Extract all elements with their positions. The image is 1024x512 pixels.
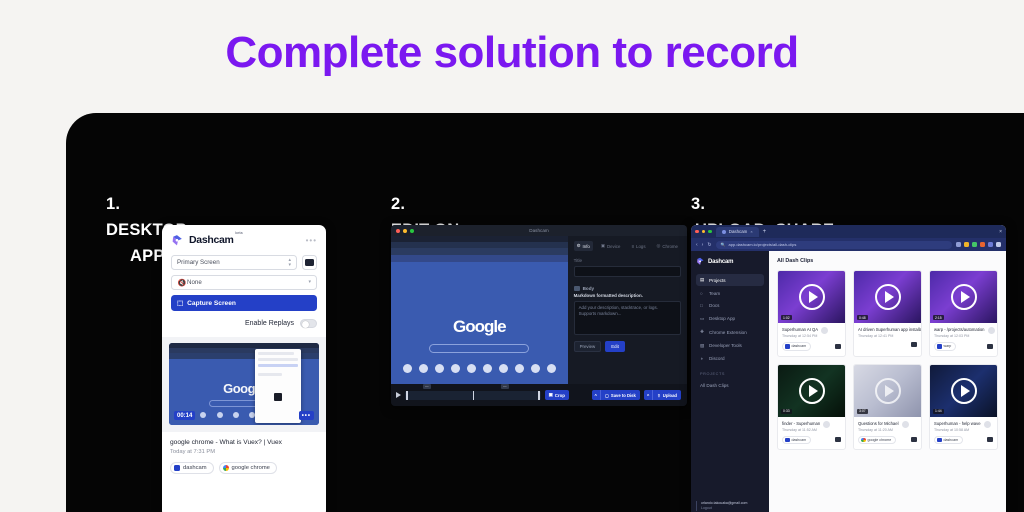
browser-extensions: [956, 242, 1001, 247]
clip-card-tag[interactable]: dashcam: [782, 342, 811, 351]
clip-tag-dashcam-label: dashcam: [183, 465, 207, 471]
clip-card-thumbnail[interactable]: 2:15: [930, 271, 997, 323]
clip-card-time: Thursday at 11:20 AM: [858, 428, 899, 432]
sidebar-item-team[interactable]: ○ Team: [696, 288, 764, 299]
showcase-stage: 1. DESKTOP APPLICATION Dashcam beta •••: [66, 113, 1024, 512]
clip-card[interactable]: 1:44 Superhuman - help wave Thursday at …: [929, 364, 998, 451]
timeline-mark-1: —: [423, 384, 431, 389]
avatar: [984, 421, 991, 428]
editor-footer: — — ▣ Crop ^ ▢: [391, 384, 687, 406]
avatar: [823, 421, 830, 428]
clip-tag-dashcam[interactable]: dashcam: [170, 462, 214, 474]
chrome-extension-icon: ❖: [700, 329, 705, 335]
clip-card-title: finder - Superhuman: [782, 421, 820, 427]
clip-tag-chrome-label: google chrome: [232, 465, 270, 471]
editor-video-preview[interactable]: Google: [391, 236, 568, 384]
browser-urlbar: ‹ › ↻ 🔍 app.dashcam.io/projects/all-dash…: [691, 238, 1006, 251]
clip-duration: 0:48: [857, 315, 868, 320]
clips-grid: 1:02 Superhuman AI QA Thursday at 12:54 …: [777, 270, 998, 450]
step-1-number: 1.: [106, 195, 120, 213]
info-icon: ⚙: [577, 243, 581, 249]
tab-info[interactable]: ⚙ Info: [574, 241, 593, 251]
clip-card-footer: dashcam: [782, 342, 841, 351]
step-column-1: 1. DESKTOP APPLICATION Dashcam beta •••: [106, 113, 366, 295]
crop-button[interactable]: ▣ Crop: [545, 390, 569, 400]
clip-card[interactable]: 1:02 Superhuman AI QA Thursday at 12:54 …: [777, 270, 846, 357]
clip-card-tag-label: dashcam: [792, 344, 807, 348]
step-column-3: 3. UPLOAD, SHARE, COLLAB Dashcam × + × ‹…: [691, 113, 1024, 295]
clip-card-meta: AI driven Superhuman app installation a.…: [854, 323, 921, 352]
clip-card-thumbnail[interactable]: 3:07: [854, 365, 921, 417]
sidebar-item-chrome-extension-label: Chrome Extension: [709, 330, 747, 335]
clip-card-top: finder - Superhuman Thursday at 11:52 AM: [782, 421, 841, 432]
timeline-mark-2: —: [501, 384, 509, 389]
sidebar-item-desktop-app[interactable]: ▭ Desktop App: [696, 313, 764, 325]
clip-tag-chrome[interactable]: google chrome: [219, 462, 277, 474]
discord-icon: ◑: [700, 356, 705, 361]
screen-select-value: Primary Screen: [177, 259, 220, 266]
dashcam-tag-icon: [785, 438, 790, 443]
clip-card-tag[interactable]: dashcam: [782, 436, 811, 445]
clip-card-thumbnail[interactable]: 1:02: [778, 271, 845, 323]
editor-window-title: Dashcam: [391, 228, 687, 233]
thumb-dashcam-overlay: [255, 349, 301, 423]
desktop-app-icon: ▭: [700, 316, 705, 322]
timeline-controls: — — ▣ Crop: [391, 390, 574, 400]
clip-duration: 0:33: [781, 409, 792, 414]
app-brand-name: Dashcam beta: [189, 234, 234, 246]
body-field-hint: Markdown formatted description.: [574, 293, 681, 298]
clip-card-top: Superhuman AI QA Thursday at 12:54 PM: [782, 327, 841, 338]
clip-menu-icon[interactable]: •••: [299, 411, 314, 420]
chevron-updown-icon: [288, 258, 291, 268]
video-bookmarkbar: [391, 255, 568, 262]
browser-tab-label: Dashcam: [729, 229, 748, 234]
download-icon[interactable]: [835, 437, 841, 442]
enable-replays-label: Enable Replays: [245, 320, 294, 327]
clip-card[interactable]: 0:48 AI driven Superhuman app installati…: [853, 270, 922, 357]
sidebar-item-team-label: Team: [709, 291, 720, 296]
video-search-box: [429, 344, 529, 353]
clip-card-tag[interactable]: google chrome: [858, 436, 896, 445]
dashcam-desktop-app-window: Dashcam beta ••• Primary Screen: [162, 225, 326, 512]
play-icon[interactable]: [396, 392, 401, 398]
trim-handle-end[interactable]: [538, 391, 540, 400]
sidebar-item-discord[interactable]: ◑ Discord: [696, 353, 764, 364]
enable-replays-toggle[interactable]: [300, 319, 317, 328]
projects-icon: ▤: [700, 277, 705, 283]
sidebar-item-developer-tools-label: Developer Tools: [709, 343, 742, 348]
dashcam-tag-icon: [937, 438, 942, 443]
browser-tab-dashcam[interactable]: Dashcam ×: [716, 227, 759, 237]
save-to-disk-label: Save to Disk: [611, 393, 636, 398]
sidebar-project-label: All Dash Clips: [700, 383, 729, 388]
clip-card-top: Questions for Michael Thursday at 11:20 …: [858, 421, 917, 432]
sidebar-section-projects: PROJECTS: [700, 372, 764, 376]
crop-icon: ▣: [549, 392, 553, 398]
address-bar[interactable]: 🔍 app.dashcam.io/projects/all-dash-clips: [716, 241, 952, 249]
dashcam-web-app-window: Dashcam × + × ‹ › ↻ 🔍 app.dashcam.io/pro…: [691, 225, 1006, 512]
clip-card-meta: Superhuman - help wave Thursday at 10:58…: [930, 417, 997, 450]
clip-duration: 1:44: [933, 409, 944, 414]
clip-card-footer: dashcam: [782, 436, 841, 445]
clip-metadata: google chrome - What is Vuex? | Vuex Tod…: [162, 432, 326, 482]
upload-label: Upload: [663, 393, 677, 398]
chrome-tag-icon: [861, 438, 866, 443]
tab-favicon: [722, 230, 726, 234]
editor-titlebar: Dashcam: [391, 225, 687, 236]
upload-caret-icon[interactable]: ^: [644, 390, 652, 400]
clip-card-time: Thursday at 12:41 PM: [858, 334, 922, 338]
clip-card-footer: google chrome: [858, 436, 917, 445]
avatar: [821, 327, 828, 334]
device-icon: ▣: [601, 243, 605, 249]
web-sidebar-brand-label: Dashcam: [708, 259, 733, 265]
download-icon[interactable]: [911, 437, 917, 442]
extension-icon-5[interactable]: [988, 242, 993, 247]
clip-card-top: Superhuman - help wave Thursday at 10:58…: [934, 421, 993, 432]
clip-card-meta: Questions for Michael Thursday at 11:20 …: [854, 417, 921, 450]
window-close-icon[interactable]: ×: [999, 229, 1002, 235]
chevron-down-icon: ▾: [308, 280, 311, 285]
developer-tools-icon: ▧: [700, 343, 705, 349]
audio-select-value: None: [187, 279, 202, 286]
clip-card-footer: dashcam: [934, 436, 993, 445]
clip-card-time: Thursday at 11:52 AM: [782, 428, 820, 432]
app-brand-text: Dashcam: [189, 234, 234, 246]
play-icon[interactable]: [875, 284, 901, 310]
clip-card-tag-label: dashcam: [944, 438, 959, 442]
clip-card-tag[interactable]: dashcam: [934, 436, 963, 445]
download-icon[interactable]: [987, 437, 993, 442]
avatar: [902, 421, 909, 428]
play-icon[interactable]: [951, 378, 977, 404]
crop-button-label: Crop: [555, 393, 565, 398]
clip-duration: 3:07: [857, 409, 868, 414]
tab-device-label: Device: [607, 244, 620, 249]
clips-gallery: All Dash Clips 1:02 Superhuman AI QA: [769, 251, 1006, 512]
tab-logs-label: Logs: [636, 244, 646, 249]
sidebar-item-chrome-extension[interactable]: ❖ Chrome Extension: [696, 326, 764, 338]
sidebar-user[interactable]: orlando.takouaka@gmail.com Logout: [696, 501, 764, 511]
step-column-2: 2. EDIT ON DESKTOP Dashcam Google: [391, 113, 691, 295]
clip-card-title: Superhuman AI QA: [782, 327, 818, 333]
upload-main[interactable]: ⇧ Upload: [652, 390, 681, 400]
headline-line-1: Complete solution to record: [0, 24, 1024, 82]
search-icon: 🔍: [721, 242, 726, 247]
user-email: orlando.takouaka@gmail.com: [701, 501, 764, 505]
web-sidebar: Dashcam ▤ Projects ○ Team □ Docs: [691, 251, 769, 512]
clip-duration: 2:15: [933, 315, 944, 320]
clip-duration-badge: 00:14: [174, 411, 195, 420]
clip-card[interactable]: 2:15 warp - /projects/automation Thursda…: [929, 270, 998, 357]
clip-card[interactable]: 3:07 Questions for Michael Thursday at 1…: [853, 364, 922, 451]
clip-card-time: Thursday at 12:54 PM: [782, 334, 818, 338]
sidebar-item-projects-label: Projects: [709, 278, 726, 283]
editor-export-actions: ^ ▢ Save to Disk ^ ⇧ Upload: [574, 390, 687, 400]
save-to-disk-main[interactable]: ▢ Save to Disk: [600, 390, 640, 400]
dashcam-tag-icon: [174, 465, 180, 471]
download-icon[interactable]: [911, 342, 917, 347]
tab-chrome[interactable]: ◎ Chrome: [654, 241, 681, 251]
address-bar-url: app.dashcam.io/projects/all-dash-clips: [729, 242, 797, 247]
clip-card-thumbnail[interactable]: 1:44: [930, 365, 997, 417]
clip-card-footer: [858, 342, 917, 347]
team-icon: ○: [700, 291, 705, 296]
preview-button[interactable]: Preview: [574, 341, 602, 352]
chrome-icon: ◎: [657, 243, 661, 249]
dashcam-tag-icon: [785, 344, 790, 349]
editor-main: Google ⚙ Info ▣: [391, 236, 687, 384]
step-2-number: 2.: [391, 195, 405, 213]
clip-duration: 1:02: [781, 315, 792, 320]
clip-card-title: Questions for Michael: [858, 421, 899, 427]
clip-card-meta: warp - /projects/automation Thursday at …: [930, 323, 997, 356]
clip-card-tag-label: google chrome: [868, 438, 892, 442]
clip-timestamp: Today at 7:31 PM: [170, 449, 318, 455]
clip-card-title: warp - /projects/automation: [934, 327, 985, 333]
screen-select-row: Primary Screen: [171, 255, 317, 270]
close-icon[interactable]: ×: [750, 229, 752, 234]
clip-card-thumbnail[interactable]: 0:48: [854, 271, 921, 323]
docs-icon: □: [700, 303, 705, 308]
recent-clip-section: Google 00:14 •••: [162, 337, 326, 432]
body-field-header: Body: [574, 286, 681, 291]
logs-icon: ≡: [631, 244, 634, 249]
clip-card-top: AI driven Superhuman app installation a.…: [858, 327, 917, 338]
reload-icon[interactable]: ↻: [707, 242, 711, 248]
sidebar-project-all-dash-clips[interactable]: All Dash Clips: [696, 380, 764, 391]
tab-device[interactable]: ▣ Device: [598, 241, 624, 251]
extension-icon-2[interactable]: [964, 242, 969, 247]
download-icon[interactable]: [987, 344, 993, 349]
clip-card-top: warp - /projects/automation Thursday at …: [934, 327, 993, 338]
play-icon[interactable]: [799, 378, 825, 404]
edit-button[interactable]: Edit: [605, 341, 625, 352]
tab-logs[interactable]: ≡ Logs: [628, 241, 648, 251]
audio-select[interactable]: 🔇 None ▾: [171, 275, 317, 290]
sidebar-item-docs-label: Docs: [709, 303, 719, 308]
beta-badge: beta: [235, 231, 242, 235]
forward-icon[interactable]: ›: [702, 242, 704, 248]
save-caret-icon[interactable]: ^: [592, 390, 600, 400]
clip-thumbnail[interactable]: Google 00:14 •••: [169, 343, 319, 425]
clip-tags: dashcam google chrome: [170, 462, 318, 474]
capture-screen-label: Capture Screen: [187, 300, 236, 307]
monitor-icon: [305, 259, 314, 266]
audio-select-row: 🔇 None ▾: [171, 275, 317, 290]
sidebar-item-docs[interactable]: □ Docs: [696, 300, 764, 311]
play-icon[interactable]: [875, 378, 901, 404]
sidebar-item-discord-label: Discord: [709, 356, 725, 361]
title-input[interactable]: [574, 266, 681, 277]
video-shortcut-icons: [403, 364, 556, 373]
browser-tabbar: Dashcam × + ×: [691, 225, 1006, 238]
clip-card-footer: warp: [934, 342, 993, 351]
browser-content: Dashcam ▤ Projects ○ Team □ Docs: [691, 251, 1006, 512]
dashcam-logo-icon: [171, 234, 184, 247]
clip-card-title: Superhuman - help wave: [934, 421, 981, 427]
app-controls: Primary Screen 🔇 None ▾ ⬚: [162, 255, 326, 337]
video-urlbar: [391, 248, 568, 255]
playhead[interactable]: [473, 391, 475, 400]
sidebar-item-developer-tools[interactable]: ▧ Developer Tools: [696, 340, 764, 352]
clip-title: google chrome - What is Vuex? | Vuex: [170, 439, 318, 446]
editor-tabs: ⚙ Info ▣ Device ≡ Logs ◎: [574, 241, 681, 251]
browser-traffic-lights[interactable]: [695, 230, 712, 234]
clip-card-title: AI driven Superhuman app installation a.…: [858, 327, 922, 333]
clip-card-meta: finder - Superhuman Thursday at 11:52 AM…: [778, 417, 845, 450]
avatar: [988, 327, 995, 334]
web-sidebar-brand: Dashcam: [696, 257, 764, 266]
video-page-content: Google: [391, 262, 568, 384]
back-icon[interactable]: ‹: [696, 242, 698, 248]
body-textarea[interactable]: Add your description, stacktrace, or log…: [574, 301, 681, 335]
chrome-tag-icon: [223, 465, 229, 471]
screen-select[interactable]: Primary Screen: [171, 255, 297, 270]
browser-menu-icon[interactable]: [996, 242, 1001, 247]
trim-handle-start[interactable]: [406, 391, 408, 400]
play-icon[interactable]: [951, 284, 977, 310]
markdown-icon: [574, 286, 580, 291]
clip-card-meta: Superhuman AI QA Thursday at 12:54 PM da…: [778, 323, 845, 356]
thumb-overlay-dot: [274, 393, 282, 401]
new-tab-icon[interactable]: +: [763, 229, 767, 235]
dashcam-tag-icon: [937, 344, 942, 349]
clip-card-tag[interactable]: warp: [934, 342, 956, 351]
save-icon: ▢: [605, 393, 609, 398]
clip-card-time: Thursday at 12:03 PM: [934, 334, 985, 338]
clip-card-time: Thursday at 10:58 AM: [934, 428, 981, 432]
tab-chrome-label: Chrome: [662, 244, 678, 249]
app-menu-icon[interactable]: •••: [306, 236, 317, 245]
save-to-disk-button[interactable]: ^ ▢ Save to Disk: [592, 390, 640, 400]
clip-card-tag-label: warp: [944, 344, 952, 348]
editor-sidebar: ⚙ Info ▣ Device ≡ Logs ◎: [568, 236, 687, 384]
dashcam-editor-window: Dashcam Google: [391, 225, 687, 406]
logout-link[interactable]: Logout: [701, 506, 712, 510]
title-field-label: Title: [574, 258, 681, 263]
timeline-scrubber[interactable]: — —: [405, 391, 541, 400]
clip-card-thumbnail[interactable]: 0:33: [778, 365, 845, 417]
page-title: All Dash Clips: [777, 258, 998, 264]
body-field-label: Body: [583, 286, 594, 291]
extension-icon-4[interactable]: [980, 242, 985, 247]
extension-icon-3[interactable]: [972, 242, 977, 247]
step-3-number: 3.: [691, 195, 705, 213]
upload-icon: ⇧: [657, 393, 661, 398]
microphone-muted-icon: 🔇: [177, 279, 187, 287]
upload-button[interactable]: ^ ⇧ Upload: [644, 390, 681, 400]
sidebar-item-projects[interactable]: ▤ Projects: [696, 274, 764, 286]
video-google-wordmark: Google: [453, 317, 506, 337]
enable-replays-row: Enable Replays: [171, 319, 317, 337]
body-actions: Preview Edit: [574, 341, 681, 352]
crop-frame-icon: ⬚: [177, 299, 183, 307]
capture-screen-button[interactable]: ⬚ Capture Screen: [171, 295, 317, 311]
extension-icon-1[interactable]: [956, 242, 961, 247]
clip-card[interactable]: 0:33 finder - Superhuman Thursday at 11:…: [777, 364, 846, 451]
tab-info-label: Info: [583, 244, 590, 249]
download-icon[interactable]: [835, 344, 841, 349]
clip-card-tag-label: dashcam: [792, 438, 807, 442]
app-header: Dashcam beta •••: [162, 225, 326, 255]
sidebar-item-desktop-app-label: Desktop App: [709, 316, 735, 321]
screen-preview-button[interactable]: [302, 255, 317, 270]
play-icon[interactable]: [799, 284, 825, 310]
